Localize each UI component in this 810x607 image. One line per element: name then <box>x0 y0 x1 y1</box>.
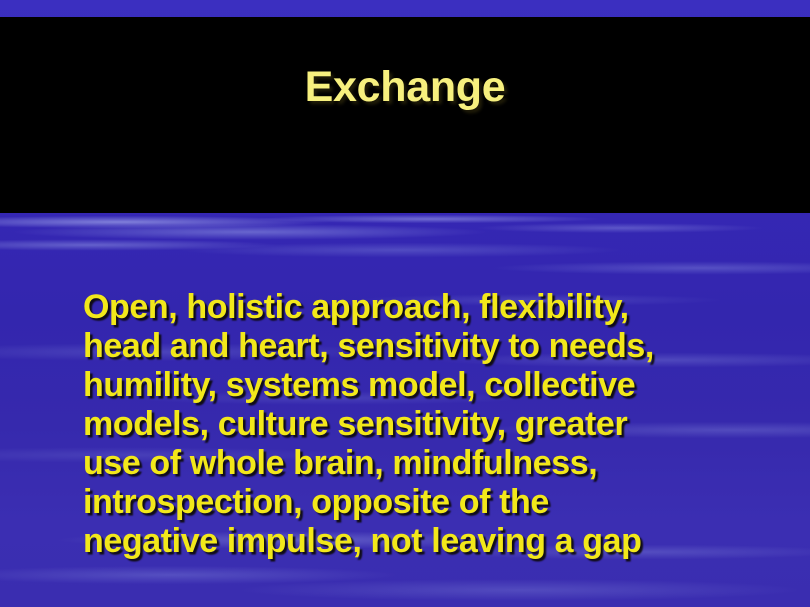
body-line: models, culture sensitivity, greater <box>83 405 799 444</box>
body-line: introspection, opposite of the <box>83 483 799 522</box>
body-line: head and heart, sensitivity to needs, <box>83 327 799 366</box>
body-line: Open, holistic approach, flexibility, <box>83 288 799 327</box>
presentation-slide: Exchange Open, holistic approach, flexib… <box>0 0 810 607</box>
body-line: humility, systems model, collective <box>83 366 799 405</box>
slide-title: Exchange <box>0 66 810 109</box>
body-line: use of whole brain, mindfulness, <box>83 444 799 483</box>
slide-body: Open, holistic approach, flexibility, he… <box>83 288 799 561</box>
body-line: negative impulse, not leaving a gap <box>83 522 799 561</box>
title-band <box>0 17 810 213</box>
